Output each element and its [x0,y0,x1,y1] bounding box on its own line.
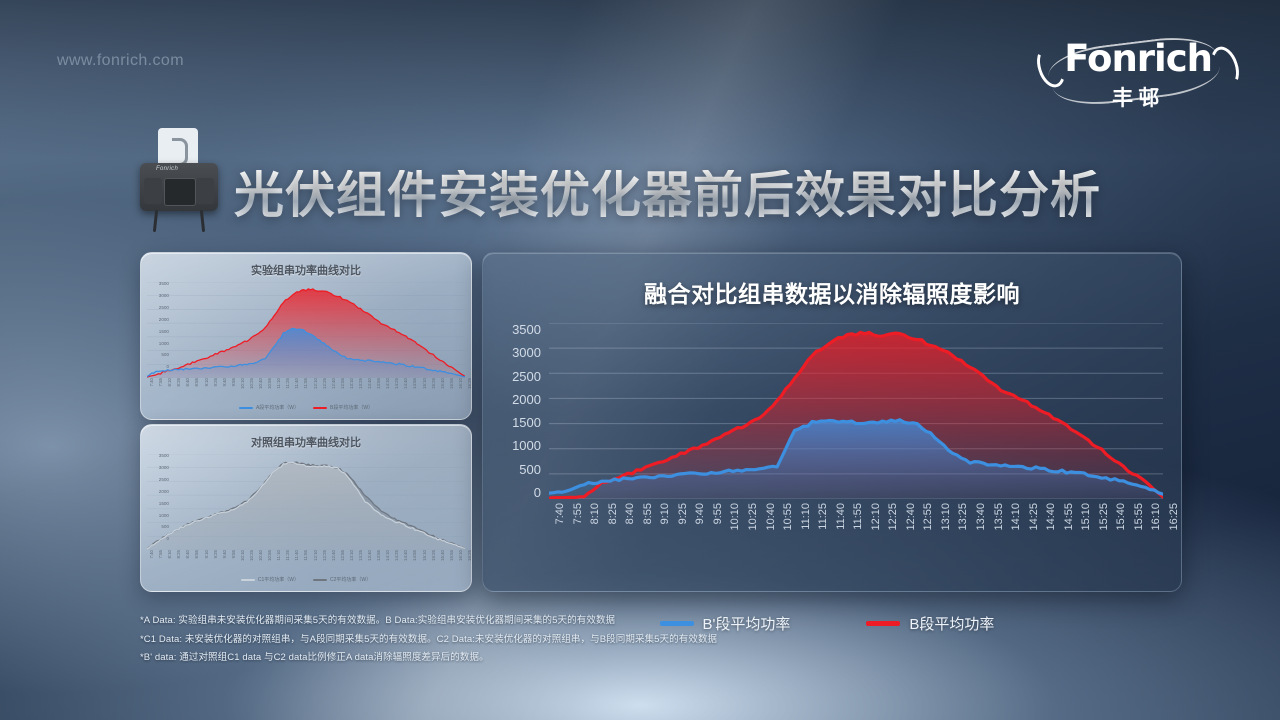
x-tick: 13:40 [975,503,987,531]
x-tick: 10:55 [267,378,272,389]
x-axis-control: 7:407:558:108:258:408:559:109:259:409:55… [147,550,465,578]
x-tick: 10:25 [747,503,759,531]
y-tick: 500 [519,463,541,476]
x-tick: 12:55 [340,378,345,389]
y-tick: 2500 [512,370,541,383]
x-tick: 9:40 [222,378,227,387]
x-tick: 9:40 [694,503,706,524]
y-tick: 0 [166,537,169,542]
x-tick: 8:40 [185,550,190,559]
x-tick: 8:40 [185,378,190,387]
x-tick: 8:25 [176,550,181,559]
x-tick: 11:10 [276,550,281,561]
x-tick: 10:40 [765,503,777,531]
x-tick: 12:40 [905,503,917,531]
x-tick: 11:40 [835,503,847,530]
chart-card-experimental: 实验组串功率曲线对比 3500300025002000150010005000 … [140,252,472,420]
y-tick: 2000 [159,490,169,495]
x-tick: 11:10 [276,378,281,389]
x-tick: 12:55 [922,503,934,531]
x-tick: 11:25 [285,550,290,561]
chart-card-main: 融合对比组串数据以消除辐照度影响 35003000250020001500100… [482,252,1182,592]
device-body: Fonrich [140,163,218,211]
x-tick: 12:25 [322,550,327,561]
x-tick: 15:40 [440,550,445,561]
x-tick: 15:55 [449,550,454,561]
x-tick: 7:55 [572,503,584,524]
y-tick: 1000 [512,439,541,452]
y-tick: 2000 [159,318,169,323]
x-tick: 15:25 [1098,503,1110,531]
legend-swatch [239,407,253,409]
x-tick: 11:10 [800,503,812,530]
x-tick: 8:55 [194,378,199,387]
x-tick: 14:40 [403,378,408,389]
x-tick: 8:55 [194,550,199,559]
x-tick: 13:10 [349,378,354,389]
x-tick: 8:25 [176,378,181,387]
x-tick: 11:55 [303,550,308,561]
legend-swatch [313,407,327,409]
x-tick: 9:55 [712,503,724,524]
x-tick: 10:10 [240,378,245,389]
x-tick: 15:40 [1115,503,1127,531]
x-tick: 8:10 [167,550,172,559]
x-tick: 10:10 [729,503,741,531]
x-tick: 9:40 [222,550,227,559]
watermark-url: www.fonrich.com [57,52,184,70]
y-tick: 2500 [159,478,169,483]
x-axis-experimental: 7:407:558:108:258:408:559:109:259:409:55… [147,378,465,406]
x-tick: 12:40 [331,378,336,389]
x-tick: 12:55 [340,550,345,561]
x-tick: 16:10 [1150,503,1162,531]
legend-swatch [313,579,327,581]
y-tick: 3000 [512,346,541,359]
footnote-c1-c2: *C1 Data: 未安装优化器的对照组串，与A段同期采集5天的有效数据。C2 … [140,631,1040,650]
chart-svg-experimental [147,282,465,378]
y-tick: 2000 [512,393,541,406]
x-tick: 14:40 [1045,503,1057,531]
page-title: 光伏组件安装优化器前后效果对比分析 [234,170,1101,224]
y-tick: 500 [161,525,169,530]
x-tick: 13:55 [993,503,1005,531]
x-tick: 13:25 [358,550,363,561]
footnote-b-prime: *B' data: 通过对照组C1 data 与C2 data比例修正A dat… [140,649,1040,668]
x-tick: 11:25 [285,378,290,389]
y-tick: 0 [166,365,169,370]
x-tick: 16:25 [467,550,472,561]
x-tick: 11:25 [817,503,829,530]
x-tick: 9:10 [659,503,671,524]
y-tick: 1000 [159,342,169,347]
x-tick: 7:55 [158,550,163,559]
footnotes: *A Data: 实验组串未安装优化器期间采集5天的有效数据。B Data:实验… [140,612,1040,668]
y-tick: 1500 [512,416,541,429]
chart-svg-main-box [549,323,1163,499]
x-axis-main: 7:407:558:108:258:408:559:109:259:409:55… [549,501,1163,553]
x-tick: 13:40 [367,378,372,389]
y-axis-main: 3500300025002000150010005000 [491,323,541,499]
y-tick: 1000 [159,514,169,519]
y-tick: 3500 [512,323,541,336]
x-tick: 15:55 [1133,503,1145,531]
x-tick: 14:10 [385,378,390,389]
device-side-slot-left [144,178,162,204]
x-tick: 9:55 [231,550,236,559]
x-tick: 13:10 [349,550,354,561]
x-tick: 8:55 [642,503,654,524]
y-tick: 0 [534,486,541,499]
x-tick: 15:10 [422,550,427,561]
x-tick: 11:55 [303,378,308,389]
chart-card-control: 对照组串功率曲线对比 3500300025002000150010005000 … [140,424,472,592]
page-header: Fonrich 光伏组件安装优化器前后效果对比分析 [138,128,1101,224]
x-tick: 9:55 [231,378,236,387]
x-tick: 14:10 [385,550,390,561]
x-tick: 8:25 [607,503,619,524]
chart-title-control: 对照组串功率曲线对比 [141,434,471,450]
y-tick: 500 [161,353,169,358]
x-tick: 14:55 [412,378,417,389]
x-tick: 10:55 [782,503,794,531]
x-tick: 7:40 [554,503,566,524]
x-tick: 11:40 [294,378,299,389]
x-tick: 11:40 [294,550,299,561]
x-tick: 15:10 [422,378,427,389]
device-notch-icon [172,138,188,166]
chart-plot-main: 3500300025002000150010005000 7:407:558:1… [491,323,1163,513]
x-tick: 13:25 [358,378,363,389]
x-tick: 15:55 [449,378,454,389]
x-tick: 16:10 [458,550,463,561]
x-tick: 10:10 [240,550,245,561]
y-axis-control: 3500300025002000150010005000 [149,454,169,542]
x-tick: 14:10 [1010,503,1022,531]
device-side-slot-right [196,178,214,204]
y-tick: 1500 [159,330,169,335]
x-tick: 7:40 [149,550,154,559]
chart-svg-main [549,323,1163,499]
x-tick: 14:25 [1028,503,1040,531]
x-tick: 8:10 [167,378,172,387]
y-tick: 3500 [159,282,169,287]
x-tick: 14:25 [394,378,399,389]
x-tick: 7:40 [149,378,154,387]
device-center-slot [164,178,196,206]
chart-title-main: 融合对比组串数据以消除辐照度影响 [483,275,1181,309]
x-tick: 9:10 [204,550,209,559]
x-tick: 15:25 [431,378,436,389]
x-tick: 12:10 [870,503,882,531]
chart-svg-control [147,454,465,550]
optimizer-device-image: Fonrich [138,128,220,224]
y-axis-experimental: 3500300025002000150010005000 [149,282,169,370]
x-tick: 12:40 [331,550,336,561]
x-tick: 14:40 [403,550,408,561]
x-tick: 12:10 [313,378,318,389]
x-tick: 9:25 [677,503,689,524]
x-tick: 15:25 [431,550,436,561]
x-tick: 9:25 [213,378,218,387]
x-tick: 15:40 [440,378,445,389]
x-tick: 13:40 [367,550,372,561]
x-tick: 14:55 [412,550,417,561]
x-tick: 10:40 [258,550,263,561]
x-tick: 12:25 [322,378,327,389]
x-tick: 12:25 [887,503,899,531]
x-tick: 14:55 [1063,503,1075,531]
x-tick: 8:10 [589,503,601,524]
x-tick: 9:25 [213,550,218,559]
chart-plot-experimental: 3500300025002000150010005000 [147,282,465,378]
logo-wordmark-wrap: Fonrich [1038,38,1238,79]
x-tick: 12:10 [313,550,318,561]
y-tick: 3500 [159,454,169,459]
x-tick: 13:25 [957,503,969,531]
chart-title-experimental: 实验组串功率曲线对比 [141,262,471,278]
fonrich-logo: Fonrich 丰邨 [1038,38,1238,112]
footnote-a-b: *A Data: 实验组串未安装优化器期间采集5天的有效数据。B Data:实验… [140,612,1040,631]
x-tick: 13:55 [376,550,381,561]
x-tick: 10:55 [267,550,272,561]
y-tick: 1500 [159,502,169,507]
x-tick: 15:10 [1080,503,1092,531]
x-tick: 10:25 [249,378,254,389]
y-tick: 3000 [159,466,169,471]
x-tick: 16:25 [1168,503,1180,531]
x-tick: 7:55 [158,378,163,387]
chart-plot-control: 3500300025002000150010005000 [147,454,465,550]
x-tick: 11:55 [852,503,864,530]
y-tick: 2500 [159,306,169,311]
legend-swatch [241,579,255,581]
x-tick: 16:10 [458,378,463,389]
device-brand-label: Fonrich [156,166,178,172]
x-tick: 13:10 [940,503,952,531]
x-tick: 10:40 [258,378,263,389]
x-tick: 13:55 [376,378,381,389]
x-tick: 10:25 [249,550,254,561]
y-tick: 3000 [159,294,169,299]
x-tick: 8:40 [624,503,636,524]
x-tick: 16:25 [467,378,472,389]
x-tick: 9:10 [204,378,209,387]
x-tick: 14:25 [394,550,399,561]
